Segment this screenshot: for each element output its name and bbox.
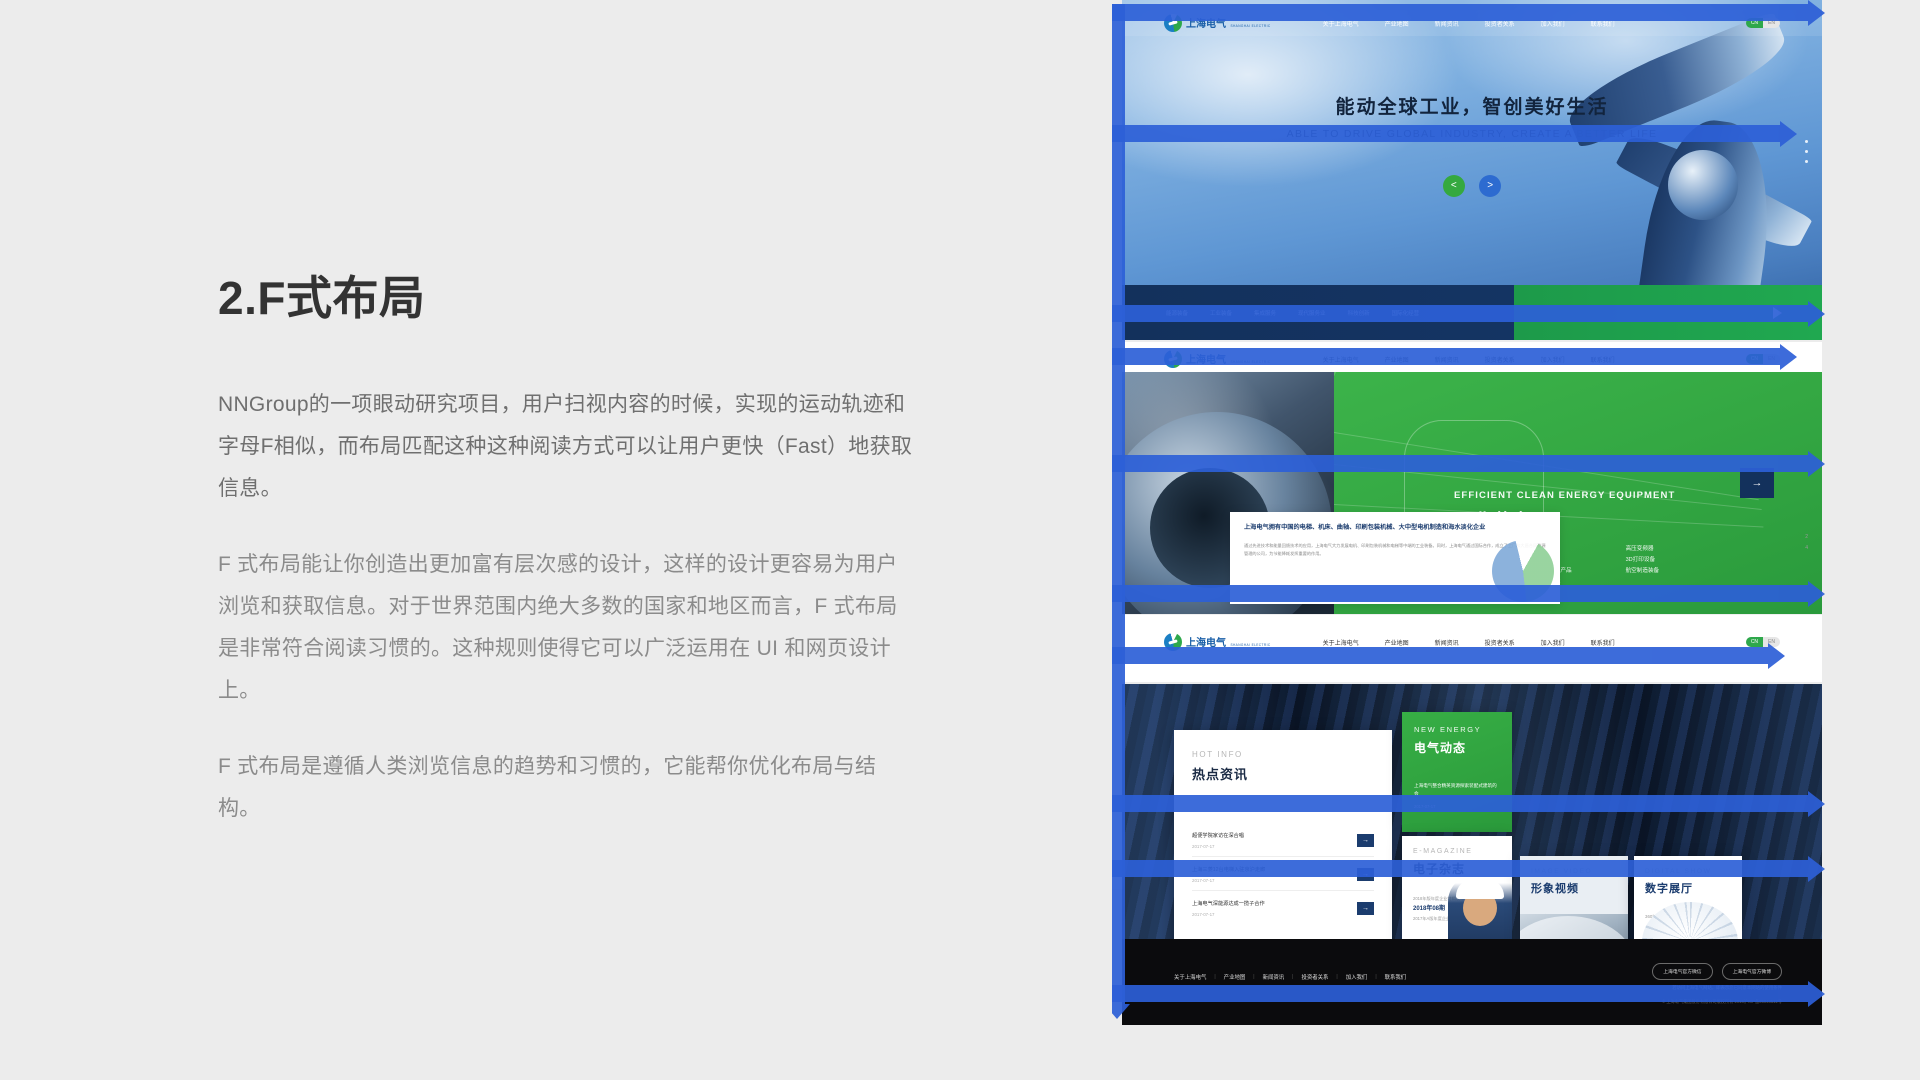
nav-links: 关于上海电气 产业地图 新闻资讯 投资者关系 加入我们 联系我们	[1323, 355, 1615, 364]
logo-pinyin: SHANGHAI ELECTRIC	[1230, 24, 1270, 28]
product-category-item[interactable]: 3D打印设备	[1626, 555, 1660, 566]
lang-cn-option[interactable]: CN	[1746, 637, 1763, 647]
lang-cn-option[interactable]: CN	[1746, 18, 1763, 28]
hot-info-kicker-en: HOT INFO	[1192, 750, 1374, 759]
website-mockup: 上海电气 SHANGHAI ELECTRIC 关于上海电气 产业地图 新闻资讯 …	[1112, 0, 1837, 1025]
list-item[interactable]: 超便学院家访在深合唱 2017-07-17 →	[1192, 823, 1374, 856]
slide-dot[interactable]	[1805, 140, 1808, 143]
wechat-pill-button[interactable]: 上海电气官方微信	[1652, 963, 1712, 980]
rail-tab-modern-service[interactable]: 现代服务业	[1298, 309, 1326, 317]
rail-tab-innovation[interactable]: 科技创新	[1348, 309, 1370, 317]
rail-tabs: 能源装备 工业装备 集成服务 现代服务业 科技创新 国际化经营	[1122, 309, 1419, 317]
list-item[interactable]: 上海三菱12台电梯入驻京沪走廊 2017-07-17 →	[1192, 856, 1374, 890]
footer-link-contact[interactable]: 联系我们	[1385, 973, 1407, 981]
logo-pinyin: SHANGHAI ELECTRIC	[1230, 360, 1270, 364]
news-arrow-button[interactable]: →	[1357, 834, 1374, 847]
hot-info-list: 超便学院家访在深合唱 2017-07-17 → 上海三菱12台电梯入驻京沪走廊 …	[1192, 823, 1374, 924]
image-video-kicker-cn: 形象视频	[1531, 880, 1617, 896]
product-category-item[interactable]: 航空制造装备	[1626, 566, 1660, 577]
news-arrow-button[interactable]: →	[1357, 868, 1374, 881]
language-toggle[interactable]: CN EN	[1746, 637, 1780, 647]
new-energy-kicker-en: NEW ENERGY	[1414, 725, 1500, 734]
nav-item-join-us[interactable]: 加入我们	[1541, 355, 1565, 364]
language-toggle[interactable]: CN EN	[1746, 354, 1780, 364]
products-footer-nav-wrap: 上海电气 SHANGHAI ELECTRIC 关于上海电气 产业地图 新闻资讯 …	[1122, 629, 1822, 655]
footer-link-join-us[interactable]: 加入我们	[1346, 973, 1368, 981]
nav-item-contact[interactable]: 联系我们	[1591, 19, 1615, 28]
language-toggle[interactable]: CN EN	[1746, 18, 1780, 28]
nav-links: 关于上海电气 产业地图 新闻资讯 投资者关系 加入我们 联系我们	[1323, 638, 1615, 647]
rail-tab-energy[interactable]: 能源装备	[1166, 309, 1188, 317]
digital-show-kicker-en: DIGITAL SHOW	[1645, 868, 1731, 875]
logo-mark-icon	[1164, 350, 1182, 368]
nav-item-industry-map[interactable]: 产业地图	[1385, 19, 1409, 28]
new-energy-headline: 上海电气整合精英资源探索装配式建筑的会	[1414, 782, 1500, 797]
footer-terms-note: 若访问上海电气网站，即表示您已同意本网站的使用条件	[1672, 985, 1782, 991]
logo-text: 上海电气	[1186, 355, 1226, 366]
hot-info-kicker-cn: 热点资讯	[1192, 764, 1374, 783]
lang-en-option[interactable]: EN	[1763, 637, 1780, 647]
nav-item-about[interactable]: 关于上海电气	[1323, 638, 1359, 647]
product-category-item[interactable]: 高压变频器	[1626, 544, 1660, 555]
products-footer-navbar: 上海电气 SHANGHAI ELECTRIC 关于上海电气 产业地图 新闻资讯 …	[1122, 629, 1822, 655]
footer-link-investor[interactable]: 投资者关系	[1301, 973, 1328, 981]
products-footer-bar: 上海电气 SHANGHAI ELECTRIC 关于上海电气 产业地图 新闻资讯 …	[1122, 614, 1822, 682]
products-screen: 上海电气 SHANGHAI ELECTRIC 关于上海电气 产业地图 新闻资讯 …	[1122, 342, 1822, 682]
secondary-navbar-wrap: 上海电气 SHANGHAI ELECTRIC 关于上海电气 产业地图 新闻资讯 …	[1122, 342, 1822, 372]
rail-tab-industrial[interactable]: 工业装备	[1210, 309, 1232, 317]
products-title-en: EFFICIENT CLEAN ENERGY EQUIPMENT	[1454, 490, 1675, 501]
news-date: 2017-07-17	[1192, 878, 1265, 883]
page-title: 2.F式布局	[218, 262, 918, 328]
logo-mark-icon	[1164, 14, 1182, 32]
news-title: 上海三菱12台电梯入驻京沪走廊	[1192, 866, 1265, 874]
nav-item-industry-map[interactable]: 产业地图	[1385, 355, 1409, 364]
logo-mark-icon	[1164, 633, 1182, 651]
nav-item-about[interactable]: 关于上海电气	[1323, 19, 1359, 28]
products-card-title: 上海电气拥有中国的电梯、机床、曲轴、印刷包装机械、大中型电机制造和海水淡化企业	[1244, 523, 1546, 533]
slide-dot[interactable]	[1805, 160, 1808, 163]
nav-item-contact[interactable]: 联系我们	[1591, 638, 1615, 647]
digital-show-head: DIGITAL SHOW 数字展厅	[1634, 856, 1742, 896]
hero-copy: 能动全球工业，智创美好生活 ABLE TO DRIVE GLOBAL INDUS…	[1122, 92, 1822, 140]
nav-item-investor[interactable]: 投资者关系	[1485, 355, 1515, 364]
news-title: 超便学院家访在深合唱	[1192, 832, 1244, 840]
image-video-head: IMAGE VIDEO 形象视频	[1520, 856, 1628, 896]
nav-item-join-us[interactable]: 加入我们	[1541, 638, 1565, 647]
footer-copyright: © 上海电气集团股份有限公司版权所有 2016沪ICP备05043512号	[1662, 999, 1782, 1005]
new-energy-date: 2017-07-17	[1414, 804, 1500, 809]
footer-link-industry-map[interactable]: 产业地图	[1224, 973, 1246, 981]
rail-next-arrow-icon[interactable]	[1773, 307, 1782, 319]
carousel-controls: < >	[1122, 175, 1822, 197]
emagazine-kicker-en: E-MAGAZINE	[1413, 848, 1501, 855]
hero-headline-cn: 能动全球工业，智创美好生活	[1122, 92, 1822, 119]
site-logo[interactable]: 上海电气 SHANGHAI ELECTRIC	[1164, 14, 1271, 32]
hero-headline-en: ABLE TO DRIVE GLOBAL INDUSTRY, CREATE A …	[1122, 128, 1822, 140]
footer-link-news[interactable]: 新闻资讯	[1263, 973, 1285, 981]
slide-indicator[interactable]	[1805, 140, 1808, 163]
product-category-column: 高压变频器 3D打印设备 航空制造装备	[1626, 544, 1660, 588]
rail-tab-integration[interactable]: 集成服务	[1254, 309, 1276, 317]
site-footer: 关于上海电气| 产业地图| 新闻资讯| 投资者关系| 加入我们| 联系我们 上海…	[1122, 939, 1822, 1025]
site-logo[interactable]: 上海电气 SHANGHAI ELECTRIC	[1164, 633, 1271, 651]
lang-en-option[interactable]: EN	[1763, 18, 1780, 28]
rail-tab-global[interactable]: 国际化经营	[1392, 309, 1420, 317]
list-item[interactable]: 上海电气深能源达成一揽子合作 2017-07-17 →	[1192, 890, 1374, 924]
pager-current[interactable]: 2	[1805, 532, 1808, 543]
footer-link-about[interactable]: 关于上海电气	[1174, 973, 1206, 981]
site-logo[interactable]: 上海电气 SHANGHAI ELECTRIC	[1164, 350, 1271, 368]
news-date: 2017-07-17	[1192, 844, 1244, 849]
nav-item-industry-map[interactable]: 产业地图	[1385, 638, 1409, 647]
brand-watermark-icon	[1492, 540, 1554, 602]
news-date: 2017-07-17	[1192, 912, 1265, 917]
nav-item-news[interactable]: 新闻资讯	[1435, 638, 1459, 647]
article-paragraph-3: F 式布局是遵循人类浏览信息的趋势和习惯的，它能帮你优化布局与结构。	[218, 746, 918, 830]
digital-show-kicker-cn: 数字展厅	[1645, 880, 1731, 896]
carousel-prev-button[interactable]: <	[1443, 175, 1465, 197]
lang-cn-option[interactable]: CN	[1746, 354, 1763, 364]
nav-item-contact[interactable]: 联系我们	[1591, 355, 1615, 364]
logo-pinyin: SHANGHAI ELECTRIC	[1230, 643, 1270, 647]
footer-social-pills: 上海电气官方微信 上海电气官方微博	[1652, 963, 1782, 980]
image-video-kicker-en: IMAGE VIDEO	[1531, 868, 1617, 875]
lang-en-option[interactable]: EN	[1763, 354, 1780, 364]
hero-section-rail: 能源装备 工业装备 集成服务 现代服务业 科技创新 国际化经营	[1122, 285, 1822, 340]
new-energy-kicker-cn: 电气动态	[1414, 739, 1500, 756]
nav-links: 关于上海电气 产业地图 新闻资讯 投资者关系 加入我们 联系我们	[1323, 19, 1615, 28]
news-arrow-button[interactable]: →	[1357, 902, 1374, 915]
logo-text: 上海电气	[1186, 638, 1226, 649]
nav-item-join-us[interactable]: 加入我们	[1541, 19, 1565, 28]
news-screen: HOT INFO 热点资讯 超便学院家访在深合唱 2017-07-17 → 上海…	[1122, 684, 1822, 1025]
article-column: 2.F式布局 NNGroup的一项眼动研究项目，用户扫视内容的时候，实现的运动轨…	[218, 262, 918, 864]
secondary-navbar: 上海电气 SHANGHAI ELECTRIC 关于上海电气 产业地图 新闻资讯 …	[1122, 346, 1822, 372]
primary-navbar: 上海电气 SHANGHAI ELECTRIC 关于上海电气 产业地图 新闻资讯 …	[1122, 10, 1822, 36]
hot-info-card: HOT INFO 热点资讯 超便学院家访在深合唱 2017-07-17 → 上海…	[1174, 730, 1392, 954]
slide-dot[interactable]	[1805, 150, 1808, 153]
nav-item-about[interactable]: 关于上海电气	[1323, 355, 1359, 364]
article-paragraph-1: NNGroup的一项眼动研究项目，用户扫视内容的时候，实现的运动轨迹和字母F相似…	[218, 384, 918, 510]
products-pager: 2 4	[1805, 532, 1808, 554]
nav-item-news[interactable]: 新闻资讯	[1435, 19, 1459, 28]
products-info-card: 上海电气拥有中国的电梯、机床、曲轴、印刷包装机械、大中型电机制造和海水淡化企业 …	[1230, 512, 1560, 604]
footer-links: 关于上海电气| 产业地图| 新闻资讯| 投资者关系| 加入我们| 联系我们	[1174, 973, 1406, 981]
new-energy-card[interactable]: NEW ENERGY 电气动态 上海电气整合精英资源探索装配式建筑的会 2017…	[1402, 712, 1512, 832]
nav-item-news[interactable]: 新闻资讯	[1435, 355, 1459, 364]
logo-text: 上海电气	[1186, 19, 1226, 30]
article-paragraph-2: F 式布局能让你创造出更加富有层次感的设计，这样的设计更容易为用户浏览和获取信息…	[218, 544, 918, 712]
news-title: 上海电气深能源达成一揽子合作	[1192, 900, 1265, 908]
nav-item-investor[interactable]: 投资者关系	[1485, 19, 1515, 28]
carousel-next-button[interactable]: >	[1479, 175, 1501, 197]
nav-item-investor[interactable]: 投资者关系	[1485, 638, 1515, 647]
products-next-arrow-button[interactable]: →	[1740, 468, 1774, 498]
pager-total[interactable]: 4	[1805, 543, 1808, 554]
hero-screen: 上海电气 SHANGHAI ELECTRIC 关于上海电气 产业地图 新闻资讯 …	[1122, 0, 1822, 340]
weibo-pill-button[interactable]: 上海电气官方微博	[1722, 963, 1782, 980]
